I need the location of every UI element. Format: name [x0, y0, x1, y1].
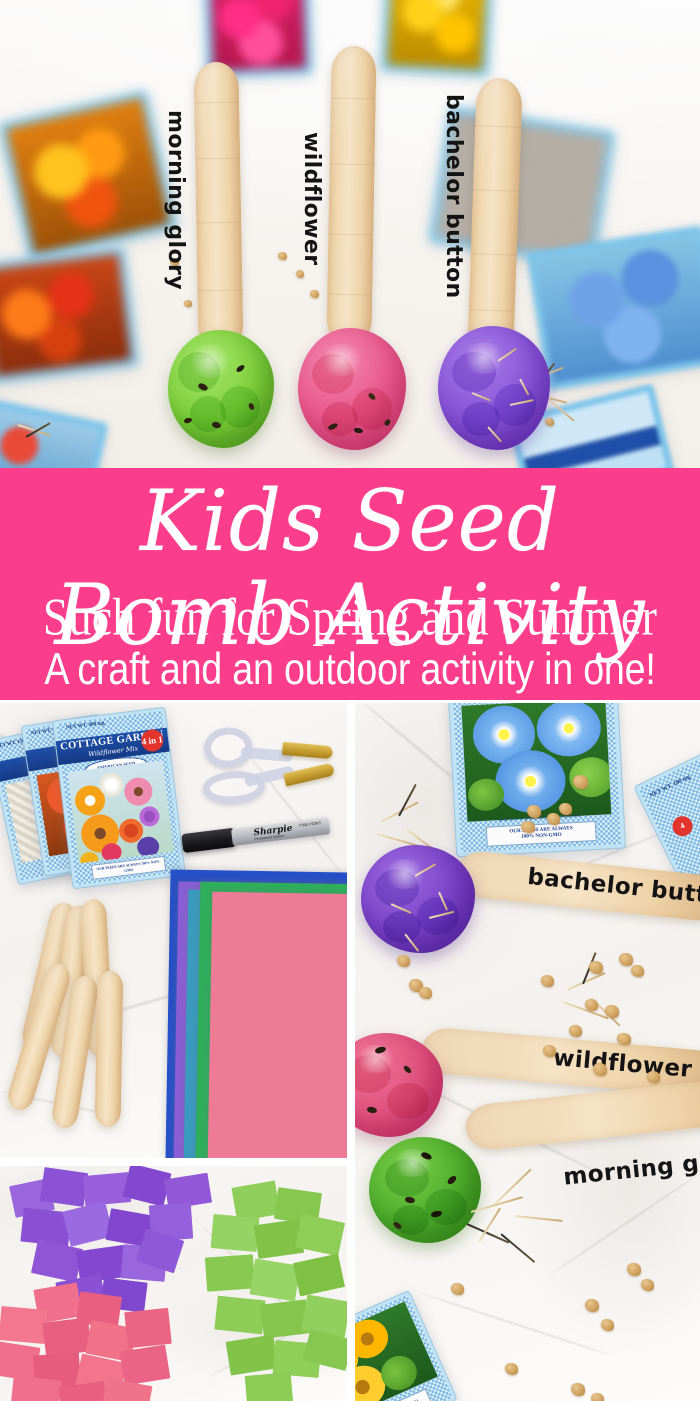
loose-seed — [617, 1033, 631, 1045]
craft-stick-wildflower — [326, 46, 376, 347]
title-banner: Kids Seed Bomb Activity Such fun for Spr… — [0, 468, 700, 700]
loose-seed — [619, 953, 633, 966]
loose-seed — [569, 1025, 582, 1037]
craft-stick-bachelor-button — [467, 77, 523, 358]
loose-seed — [397, 955, 410, 967]
result-photo: good luck to grow, blooming & repeated O… — [355, 703, 700, 1401]
seed-bomb-pink — [298, 328, 406, 450]
subtitle-line-2: A craft and an outdoor activity in one! — [4, 648, 697, 692]
loose-seed — [545, 418, 554, 426]
loose-seed — [521, 821, 535, 833]
seed-speck — [183, 417, 192, 424]
seed-chaff — [472, 392, 491, 401]
loose-seed — [451, 1283, 464, 1295]
confetti-pile-pink — [0, 1284, 206, 1401]
loose-seed — [601, 1319, 614, 1331]
stick-label-bachelor-button: bachelor button — [441, 94, 466, 324]
loose-seed — [527, 805, 541, 818]
seed-speck — [235, 364, 245, 373]
loose-seed — [585, 999, 598, 1011]
loose-seed — [631, 965, 644, 977]
seed-bomb-green — [168, 330, 274, 448]
supplies-photo: NET WT. 150 mg NET WT. 220 mg NET WT. 40… — [0, 703, 347, 1158]
seed-packet-cottage-garden: NET WT. 400 mg COTTAGE GARDEN Wildflower… — [52, 707, 186, 890]
confetti-pile-green — [198, 1184, 347, 1401]
loose-seed — [541, 975, 554, 987]
loose-seed — [585, 1299, 599, 1312]
background-seed-packet-yellow — [380, 0, 493, 77]
loose-seed — [543, 1045, 556, 1057]
seed-speck — [405, 1196, 416, 1203]
seed-speck — [367, 1106, 378, 1114]
seed-speck — [402, 1065, 412, 1075]
loose-seed — [278, 252, 287, 260]
loose-seed — [605, 1005, 619, 1018]
loose-seed — [419, 987, 432, 999]
seed-packet-morning-glory: good luck to grow, blooming & repeated O… — [448, 703, 626, 857]
loose-seed — [591, 1393, 604, 1401]
seed-bomb-purple — [438, 326, 550, 450]
hero-photo: morning glory wildflower bachelor button — [0, 0, 700, 468]
craft-stick-morning-glory — [193, 62, 243, 353]
loose-seed — [547, 813, 560, 825]
loose-seed — [589, 961, 603, 974]
seed-speck — [446, 1174, 457, 1185]
stick-label-morning-glory: morning glory — [163, 110, 188, 310]
seed-bomb-green — [369, 1137, 481, 1243]
craft-paper-pink — [208, 892, 347, 1158]
background-seed-packet-red — [0, 246, 139, 383]
loose-seed — [593, 1063, 607, 1076]
stick-label-wildflower: wildflower — [299, 132, 324, 332]
loose-seed — [571, 1383, 585, 1396]
seed-bomb-purple — [361, 845, 475, 953]
loose-seed — [647, 1071, 660, 1083]
loose-seed — [573, 775, 588, 789]
loose-seed — [559, 803, 572, 815]
claim-line-2: 100% NON-GMO — [521, 833, 562, 841]
craft-stick — [95, 971, 124, 1127]
loose-seed — [505, 1363, 518, 1375]
loose-seed — [641, 1279, 654, 1291]
loose-seed — [627, 1263, 641, 1276]
seed-speck — [354, 427, 364, 433]
subtitle-line-1: Such fun for Spring and Summer — [0, 591, 700, 644]
confetti-photo — [0, 1166, 347, 1401]
